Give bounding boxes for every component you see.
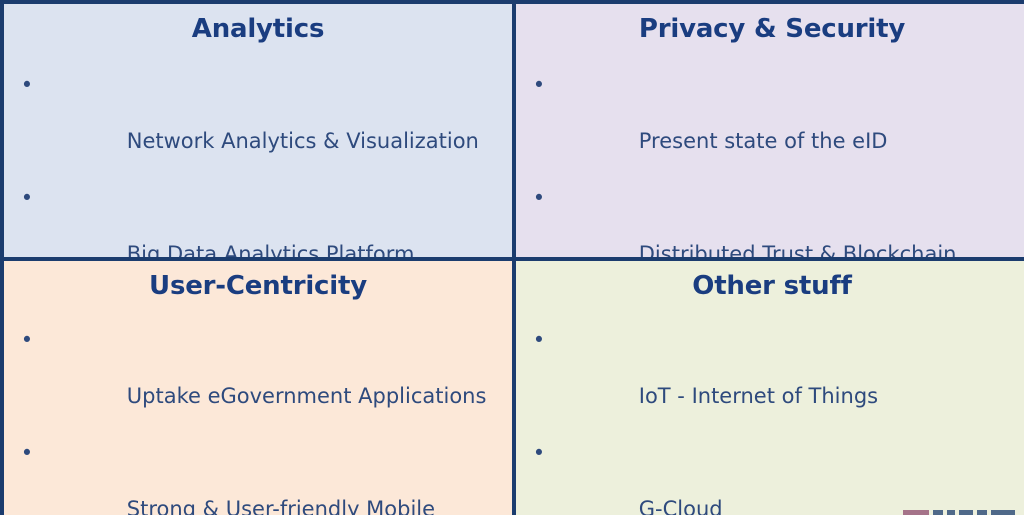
list-item-label: Uptake eGovernment Applications (127, 384, 487, 408)
list-item: • G-Cloud (526, 439, 1018, 515)
list-item-label: G-Cloud (639, 497, 723, 515)
quadrant-other-stuff: Other stuff • IoT - Internet of Things •… (516, 261, 1024, 515)
list-item-label: Strong & User-friendly Mobile Authentica… (60, 497, 435, 515)
quadrant-title-privacy-security: Privacy & Security (526, 16, 1018, 43)
bullet-list-privacy-security: • Present state of the eID • Distributed… (526, 71, 1018, 261)
bullet-list-other-stuff: • IoT - Internet of Things • G-Cloud • D… (526, 326, 1018, 515)
quadrant-user-centricity: User-Centricity • Uptake eGovernment App… (4, 261, 516, 515)
bullet-icon: • (20, 71, 34, 99)
quadrant-title-analytics: Analytics (14, 16, 502, 43)
quadrant-grid: Analytics • Network Analytics & Visualiz… (0, 0, 1024, 515)
artifact-segment (977, 510, 987, 515)
list-item-label: Network Analytics & Visualization (127, 129, 479, 153)
list-item: • Strong & User-friendly Mobile Authenti… (14, 439, 502, 515)
quadrant-title-other-stuff: Other stuff (526, 273, 1018, 300)
list-item: • Present state of the eID (526, 71, 1018, 183)
bullet-list-analytics: • Network Analytics & Visualization • Bi… (14, 71, 502, 261)
quadrant-privacy-security: Privacy & Security • Present state of th… (516, 4, 1024, 261)
list-item-label: Distributed Trust & Blockchain (639, 242, 957, 261)
artifact-segment (933, 510, 943, 515)
quadrant-analytics: Analytics • Network Analytics & Visualiz… (4, 4, 516, 261)
bullet-icon: • (20, 326, 34, 354)
list-item: • Distributed Trust & Blockchain (526, 184, 1018, 261)
bullet-icon: • (532, 71, 546, 99)
list-item-label: IoT - Internet of Things (639, 384, 878, 408)
artifact-segment (947, 510, 955, 515)
bullet-icon: • (20, 439, 34, 467)
cropped-footer-artifact (901, 510, 1021, 515)
list-item-label: Present state of the eID (639, 129, 888, 153)
bullet-icon: • (532, 439, 546, 467)
bullet-icon: • (20, 184, 34, 212)
list-item: • Big Data Analytics Platform (14, 184, 502, 261)
artifact-segment (903, 510, 929, 515)
list-item: • Network Analytics & Visualization (14, 71, 502, 183)
bullet-icon: • (532, 184, 546, 212)
quadrant-title-user-centricity: User-Centricity (14, 273, 502, 300)
list-item: • IoT - Internet of Things (526, 326, 1018, 438)
bullet-list-user-centricity: • Uptake eGovernment Applications • Stro… (14, 326, 502, 515)
quadrant-matrix-slide: Analytics • Network Analytics & Visualiz… (0, 0, 1024, 515)
list-item: • Uptake eGovernment Applications (14, 326, 502, 438)
bullet-icon: • (532, 326, 546, 354)
artifact-segment (959, 510, 973, 515)
list-item-label: Big Data Analytics Platform (127, 242, 415, 261)
artifact-segment (991, 510, 1015, 515)
